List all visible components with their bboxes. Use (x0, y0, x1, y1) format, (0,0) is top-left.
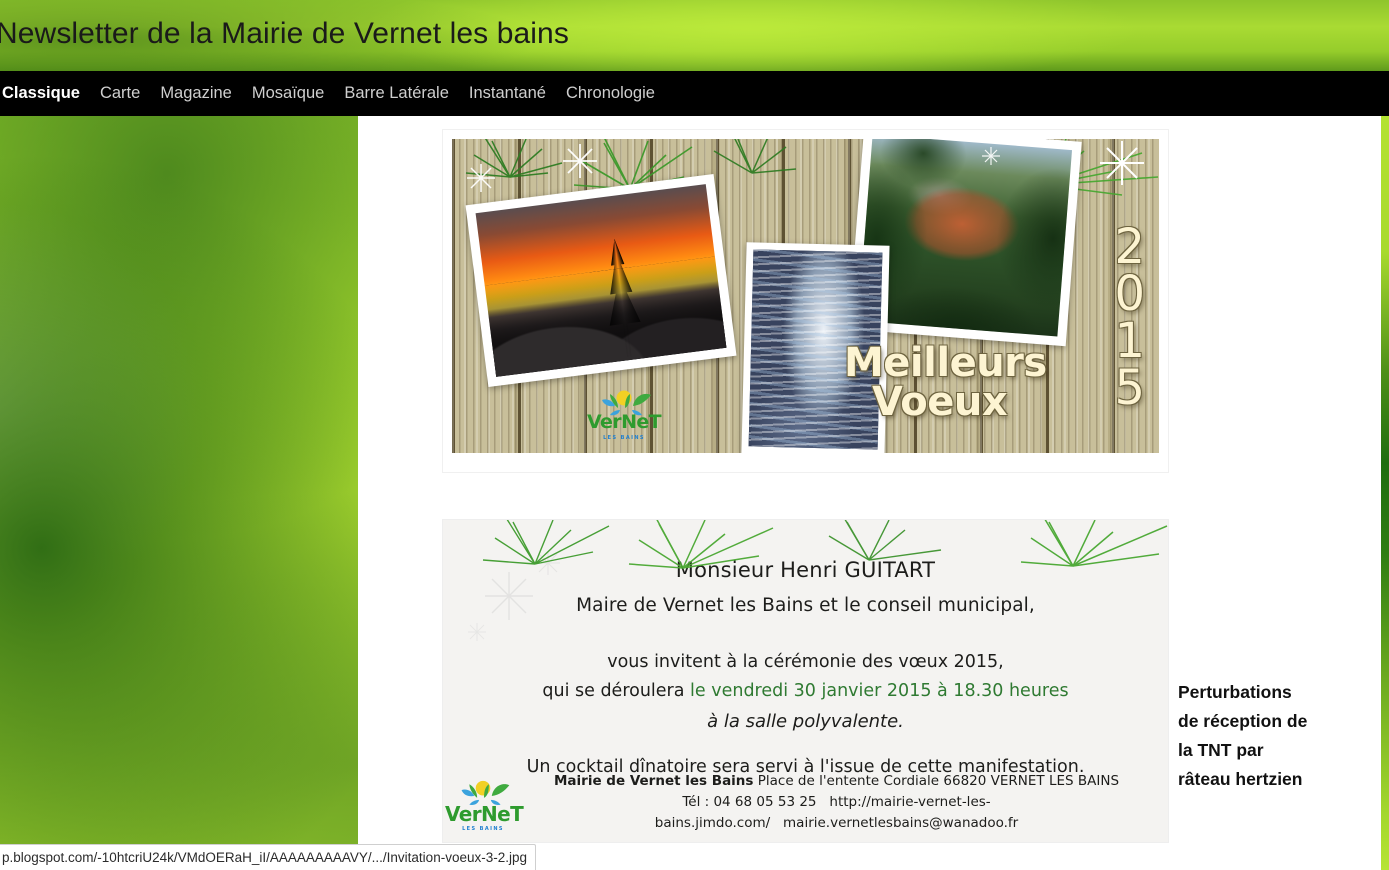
browser-status-bar: p.blogspot.com/-10htcriU24k/VMdOERaH_iI/… (0, 844, 536, 870)
year-digit-3: 1 (1114, 318, 1145, 365)
view-mode-nav-bar: Classique Carte Magazine Mosaïque Barre … (0, 71, 1389, 116)
year-digit-2: 0 (1114, 271, 1145, 318)
vernet-logo: VerNeT LES BAINS (585, 391, 663, 441)
vernet-logo: VerNeT LES BAINS (445, 780, 521, 832)
invitation-footer-text: Mairie de Vernet les Bains Place de l'en… (521, 771, 1168, 834)
invitation-footer: VerNeT LES BAINS Mairie de Vernet les Ba… (443, 771, 1168, 834)
greeting-card-image[interactable]: VerNeT LES BAINS Meilleurs Voeux 2 0 1 5 (452, 139, 1159, 453)
vernet-logo-subtitle: LES BAINS (445, 827, 521, 832)
nav-item-barre-laterale[interactable]: Barre Latérale (334, 71, 459, 116)
status-bar-url: p.blogspot.com/-10htcriU24k/VMdOERaH_iI/… (2, 850, 527, 865)
year-digit-4: 5 (1114, 365, 1145, 412)
greeting-headline: Meilleurs Voeux (844, 344, 1047, 422)
invitation-footer-org: Mairie de Vernet les Bains (554, 773, 753, 789)
nav-item-mosaique[interactable]: Mosaïque (242, 71, 334, 116)
sparkle-icon (562, 143, 598, 179)
invitation-line-place: à la salle polyvalente. (443, 707, 1168, 737)
greeting-card-image-frame[interactable]: VerNeT LES BAINS Meilleurs Voeux 2 0 1 5 (443, 130, 1168, 472)
invitation-footer-address: Place de l'entente Cordiale 66820 VERNET… (753, 773, 1119, 789)
invitation-footer-line1: Mairie de Vernet les Bains Place de l'en… (521, 771, 1152, 792)
vernet-logo-subtitle: LES BAINS (585, 436, 663, 441)
sidebar-gadget-tnt[interactable]: Perturbations de réception de la TNT par… (1178, 678, 1310, 794)
greeting-year: 2 0 1 5 (1114, 224, 1145, 412)
year-digit-1: 2 (1114, 224, 1145, 271)
snowflake-icon (467, 622, 487, 642)
invitation-footer-email[interactable]: mairie.vernetlesbains@wanadoo.fr (783, 815, 1018, 831)
page-title: Newsletter de la Mairie de Vernet les ba… (0, 17, 569, 51)
pine-branch-decoration-icon (443, 520, 1168, 578)
invitation-card-image[interactable]: Monsieur Henri GUITART Maire de Vernet l… (443, 520, 1168, 842)
vernet-logo-wordmark: VerNeT (445, 804, 521, 824)
blog-header-banner: Newsletter de la Mairie de Vernet les ba… (0, 0, 1389, 71)
invitation-mayor-role: Maire de Vernet les Bains et le conseil … (443, 595, 1168, 616)
invitation-when-highlight: le vendredi 30 janvier 2015 à 18.30 heur… (690, 681, 1069, 701)
nav-item-classique[interactable]: Classique (0, 71, 90, 116)
invitation-footer-line2: Tél : 04 68 05 53 25 http://mairie-verne… (521, 792, 1152, 834)
invitation-line-invite: vous invitent à la cérémonie des vœux 20… (443, 648, 1168, 677)
nav-item-chronologie[interactable]: Chronologie (556, 71, 665, 116)
sparkle-icon (466, 163, 496, 193)
nav-item-carte[interactable]: Carte (90, 71, 150, 116)
greeting-headline-line2: Voeux (844, 383, 1047, 422)
vernet-logo-wordmark: VerNeT (585, 413, 663, 432)
invitation-when-prefix: qui se déroulera (542, 681, 690, 701)
post-body: VerNeT LES BAINS Meilleurs Voeux 2 0 1 5 (443, 130, 1173, 842)
sunset-mountain-photo (476, 184, 727, 377)
photo-stamp-sunset (466, 174, 737, 387)
village-aerial-photo (858, 139, 1072, 337)
invitation-line-when: qui se déroulera le vendredi 30 janvier … (443, 677, 1168, 706)
invitation-footer-phone: Tél : 04 68 05 53 25 (682, 794, 816, 810)
sparkle-icon (1100, 141, 1144, 185)
nav-item-instantane[interactable]: Instantané (459, 71, 556, 116)
page-right-edge-strip (1381, 116, 1389, 870)
nav-list: Classique Carte Magazine Mosaïque Barre … (0, 71, 665, 116)
nav-item-magazine[interactable]: Magazine (150, 71, 242, 116)
